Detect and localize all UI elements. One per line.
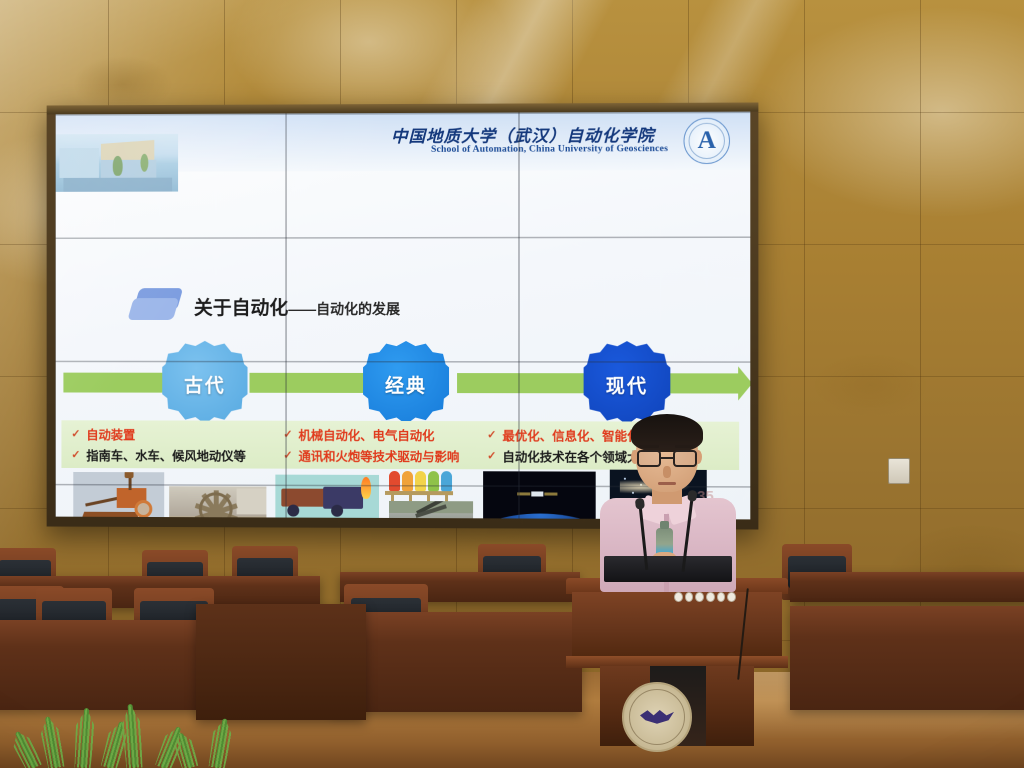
bullet-line: ✓ 自动装置 — [71, 423, 281, 444]
cug-logo-letter: A — [698, 127, 716, 152]
satellite-earth-photo — [483, 471, 596, 519]
slide-title-dash: —— — [288, 301, 316, 317]
timeline-arrow — [666, 373, 739, 393]
bullet-text: 指南车、水车、候风地动仪等 — [86, 446, 246, 464]
lectern-control-buttons[interactable] — [674, 592, 736, 602]
wall-socket — [888, 458, 910, 484]
row-desk — [790, 572, 1024, 602]
bullet-text: 机械自动化、电气自动化 — [298, 425, 434, 443]
front-row-desk — [330, 612, 582, 712]
campus-photo — [56, 134, 179, 192]
south-pointing-chariot-photo — [73, 472, 164, 519]
institute-emblem — [622, 682, 692, 752]
slide-title-main: 关于自动化 — [194, 298, 288, 319]
water-wheel-photo — [169, 486, 266, 519]
bullet-column-ancient: ✓ 自动装置 ✓ 指南车、水车、候风地动仪等 — [71, 423, 281, 467]
slide-title: 关于自动化——自动化的发展 — [194, 293, 400, 320]
conference-room: 中国地质大学（武汉）自动化学院 School of Automation, Ch… — [0, 0, 1024, 768]
bullet-line: ✓ 机械自动化、电气自动化 — [283, 424, 483, 445]
check-icon: ✓ — [71, 448, 80, 461]
bullet-column-classical: ✓ 机械自动化、电气自动化 ✓ 通讯和火炮等技术驱动与影响 — [283, 424, 483, 469]
front-row-desk — [790, 606, 1024, 710]
bullet-text: 自动装置 — [86, 425, 135, 443]
check-icon: ✓ — [487, 428, 496, 441]
nose — [663, 466, 671, 478]
stage-badge-classical[interactable]: 经典 — [363, 341, 449, 427]
check-icon: ✓ — [71, 427, 80, 440]
stage-badge-ancient[interactable]: 古代 — [162, 341, 247, 427]
glasses-icon — [636, 450, 698, 467]
bullet-line: ✓ 指南车、水车、候风地动仪等 — [71, 444, 281, 465]
eyebrow — [675, 445, 695, 448]
bullet-text: 通讯和火炮等技术驱动与影响 — [298, 446, 459, 464]
check-icon: ✓ — [487, 449, 496, 462]
podium-monitor[interactable] — [604, 556, 732, 582]
bullet-line: ✓ 通讯和火炮等技术驱动与影响 — [283, 445, 483, 467]
fern-plant — [28, 698, 258, 768]
steam-machinery-photo — [275, 475, 379, 520]
anti-aircraft-gun-photo — [389, 501, 473, 519]
check-icon: ✓ — [283, 449, 292, 462]
cug-logo: A — [683, 118, 730, 164]
mouth — [658, 482, 676, 485]
slide-title-sub: 自动化的发展 — [316, 301, 400, 317]
eyebrow — [639, 445, 659, 448]
university-name-en: School of Automation, China University o… — [431, 143, 668, 155]
check-icon: ✓ — [283, 428, 292, 441]
